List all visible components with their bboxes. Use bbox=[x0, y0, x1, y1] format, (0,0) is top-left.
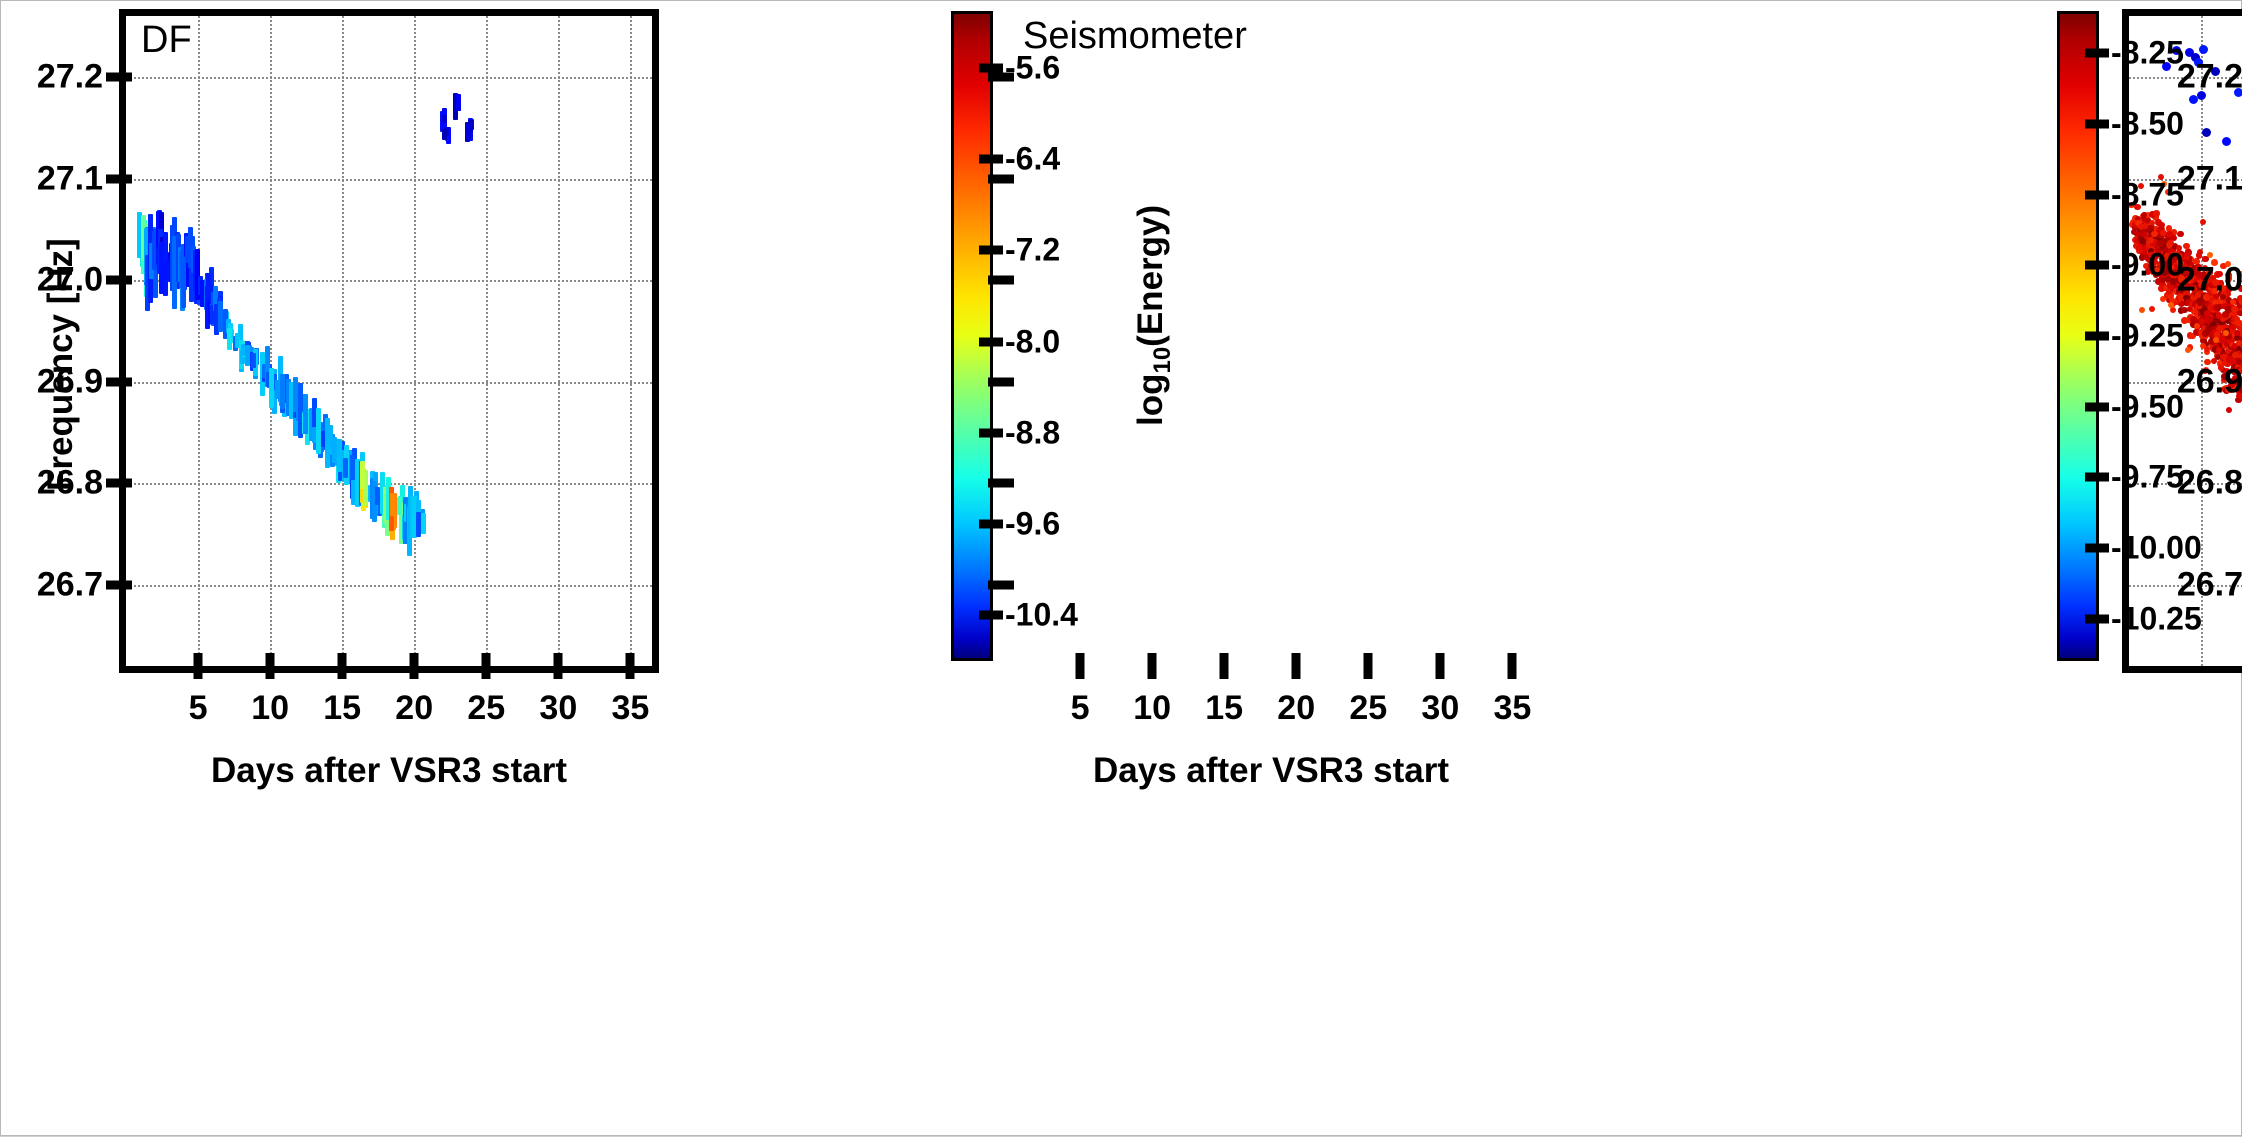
x-tick-mark bbox=[194, 653, 203, 679]
data-mark bbox=[421, 513, 426, 534]
x-tick-label: 25 bbox=[1349, 689, 1387, 728]
data-point bbox=[2177, 231, 2184, 238]
data-mark bbox=[456, 94, 461, 112]
data-point bbox=[2149, 306, 2155, 312]
colorbar-tick-mark bbox=[979, 246, 1003, 255]
colorbar-tick-mark bbox=[2085, 49, 2109, 58]
y-tick-mark bbox=[106, 479, 132, 488]
data-point bbox=[2199, 318, 2206, 325]
data-mark bbox=[416, 512, 421, 538]
colorbar-tick-label: -9.75 bbox=[2111, 459, 2184, 496]
x-axis-title-seismometer: Days after VSR3 start bbox=[1093, 751, 1449, 791]
gridline-vertical bbox=[486, 16, 488, 666]
x-axis-title-df: Days after VSR3 start bbox=[211, 751, 567, 791]
x-tick-mark bbox=[1148, 653, 1157, 679]
y-tick-label: 27.1 bbox=[1, 159, 103, 198]
colorbar-tick-label: -8.75 bbox=[2111, 176, 2184, 213]
x-tick-mark bbox=[1436, 653, 1445, 679]
x-tick-mark bbox=[1292, 653, 1301, 679]
x-tick-mark bbox=[1364, 653, 1373, 679]
data-point bbox=[2159, 222, 2166, 229]
x-tick-label: 5 bbox=[1071, 689, 1090, 728]
y-tick-mark bbox=[106, 174, 132, 183]
data-point bbox=[2200, 219, 2206, 225]
data-mark bbox=[227, 328, 232, 351]
colorbar-tick-label: -8.25 bbox=[2111, 35, 2184, 72]
colorbar-tick-mark bbox=[2085, 402, 2109, 411]
colorbar-tick-label: -7.2 bbox=[1005, 232, 1060, 269]
data-mark bbox=[280, 374, 285, 408]
x-tick-label: 15 bbox=[1205, 689, 1243, 728]
y-tick-mark bbox=[106, 276, 132, 285]
x-tick-label: 30 bbox=[539, 689, 577, 728]
x-tick-label: 20 bbox=[1277, 689, 1315, 728]
y-tick-label: 26.7 bbox=[1, 565, 103, 604]
x-tick-label: 35 bbox=[1493, 689, 1531, 728]
colorbar-tick-label: -9.6 bbox=[1005, 506, 1060, 543]
data-point bbox=[2170, 307, 2177, 314]
data-point bbox=[2216, 312, 2223, 319]
data-point bbox=[2223, 330, 2229, 336]
x-tick-label: 30 bbox=[1421, 689, 1459, 728]
data-point bbox=[2202, 128, 2211, 137]
data-mark bbox=[375, 487, 380, 505]
gridline-vertical bbox=[270, 16, 272, 666]
data-mark bbox=[316, 408, 321, 454]
x-tick-mark bbox=[1508, 653, 1517, 679]
data-point bbox=[2199, 45, 2208, 54]
colorbar-tick-label: -9.25 bbox=[2111, 318, 2184, 355]
panel-df: DF 26.726.826.927.027.127.2 510152025303… bbox=[1, 1, 1122, 1137]
plot-area-df bbox=[119, 9, 659, 673]
data-mark bbox=[466, 124, 471, 140]
data-point bbox=[2225, 348, 2231, 354]
gridline-horizontal bbox=[126, 585, 652, 587]
y-tick-mark bbox=[988, 377, 1014, 386]
data-point bbox=[2217, 325, 2224, 332]
data-point bbox=[2142, 223, 2148, 229]
x-tick-label: 25 bbox=[467, 689, 505, 728]
data-point bbox=[2168, 302, 2174, 308]
y-tick-mark bbox=[106, 580, 132, 589]
x-tick-mark bbox=[554, 653, 563, 679]
gridline-horizontal bbox=[126, 179, 652, 181]
data-point bbox=[2151, 231, 2158, 238]
data-point bbox=[2191, 308, 2198, 315]
data-mark bbox=[360, 461, 365, 489]
colorbar-tick-label: -9.50 bbox=[2111, 388, 2184, 425]
y-tick-mark bbox=[106, 377, 132, 386]
data-mark bbox=[245, 345, 250, 366]
colorbar-tick-mark bbox=[979, 428, 1003, 437]
x-tick-label: 10 bbox=[1133, 689, 1171, 728]
data-point bbox=[2185, 347, 2191, 353]
colorbar-tick-mark bbox=[2085, 332, 2109, 341]
data-mark bbox=[350, 455, 355, 480]
gridline-horizontal bbox=[126, 382, 652, 384]
colorbar-tick-mark bbox=[2085, 261, 2109, 270]
colorbar-tick-mark bbox=[2085, 473, 2109, 482]
data-mark bbox=[390, 493, 395, 516]
data-point bbox=[2222, 137, 2231, 146]
colorbar-tick-mark bbox=[979, 520, 1003, 529]
colorbar-title-seismometer: log10(Energy) bbox=[2237, 205, 2242, 426]
y-tick-mark bbox=[988, 276, 1014, 285]
y-tick-mark bbox=[988, 580, 1014, 589]
colorbar-tick-label: -9.00 bbox=[2111, 247, 2184, 284]
data-mark bbox=[343, 458, 348, 479]
x-tick-label: 10 bbox=[251, 689, 289, 728]
data-mark bbox=[337, 439, 342, 472]
colorbar-tick-label: -8.0 bbox=[1005, 323, 1060, 360]
data-mark bbox=[164, 260, 169, 280]
data-point bbox=[2171, 235, 2178, 242]
data-mark bbox=[251, 353, 256, 368]
colorbar-tick-label: -8.50 bbox=[2111, 106, 2184, 143]
colorbar-tick-mark bbox=[979, 155, 1003, 164]
y-tick-mark bbox=[988, 72, 1014, 81]
panel-title-seismometer: Seismometer bbox=[1023, 15, 1247, 58]
gridline-vertical bbox=[414, 16, 416, 666]
x-tick-mark bbox=[338, 653, 347, 679]
gridline-horizontal bbox=[126, 77, 652, 79]
x-tick-label: 5 bbox=[189, 689, 208, 728]
x-tick-label: 35 bbox=[611, 689, 649, 728]
y-tick-mark bbox=[988, 479, 1014, 488]
colorbar-title-main: log bbox=[2237, 374, 2242, 426]
data-mark bbox=[269, 368, 274, 408]
data-point bbox=[2213, 337, 2219, 343]
colorbar-tick-mark bbox=[2085, 614, 2109, 623]
colorbar-tick-mark bbox=[2085, 120, 2109, 129]
colorbar-tick-label: -10.25 bbox=[2111, 600, 2202, 637]
x-tick-mark bbox=[626, 653, 635, 679]
colorbar-tick-label: -6.4 bbox=[1005, 141, 1060, 178]
data-point bbox=[2139, 307, 2145, 313]
x-tick-label: 15 bbox=[323, 689, 361, 728]
colorbar-tick-mark bbox=[979, 64, 1003, 73]
colorbar-tick-mark bbox=[979, 611, 1003, 620]
colorbar-tick-mark bbox=[979, 337, 1003, 346]
data-point bbox=[2226, 407, 2232, 413]
x-tick-mark bbox=[1220, 653, 1229, 679]
x-tick-label: 20 bbox=[395, 689, 433, 728]
colorbar-tick-mark bbox=[2085, 543, 2109, 552]
gridline-vertical bbox=[558, 16, 560, 666]
data-mark bbox=[303, 405, 308, 434]
gridline-vertical bbox=[630, 16, 632, 666]
figure-root: DF 26.726.826.927.027.127.2 510152025303… bbox=[0, 0, 2242, 1136]
y-axis-title-df: Frequency [Hz] bbox=[41, 238, 81, 491]
colorbar-title-tail: (Energy) bbox=[2237, 205, 2242, 347]
data-mark bbox=[442, 129, 447, 140]
data-mark bbox=[442, 115, 447, 123]
panel-title-df: DF bbox=[141, 19, 192, 62]
x-tick-mark bbox=[482, 653, 491, 679]
data-mark bbox=[325, 418, 330, 453]
gridline-vertical bbox=[198, 16, 200, 666]
colorbar-tick-label: -8.8 bbox=[1005, 414, 1060, 451]
x-tick-mark bbox=[266, 653, 275, 679]
colorbar-tick-label: -10.4 bbox=[1005, 597, 1078, 634]
colorbar-df bbox=[951, 11, 993, 661]
y-tick-label: 27.2 bbox=[1, 57, 103, 96]
data-point bbox=[2157, 240, 2164, 247]
x-tick-mark bbox=[1076, 653, 1085, 679]
data-point bbox=[2197, 249, 2203, 255]
colorbar-tick-mark bbox=[2085, 190, 2109, 199]
data-point bbox=[2215, 305, 2222, 312]
gridline-vertical bbox=[342, 16, 344, 666]
data-point bbox=[2207, 252, 2213, 258]
panel-seismometer: Seismometer 26.726.826.927.027.127.2 510… bbox=[1122, 1, 2242, 1137]
y-tick-mark bbox=[988, 174, 1014, 183]
y-tick-mark bbox=[106, 72, 132, 81]
data-mark bbox=[397, 497, 402, 516]
colorbar-tick-label: -10.00 bbox=[2111, 529, 2202, 566]
x-tick-mark bbox=[410, 653, 419, 679]
